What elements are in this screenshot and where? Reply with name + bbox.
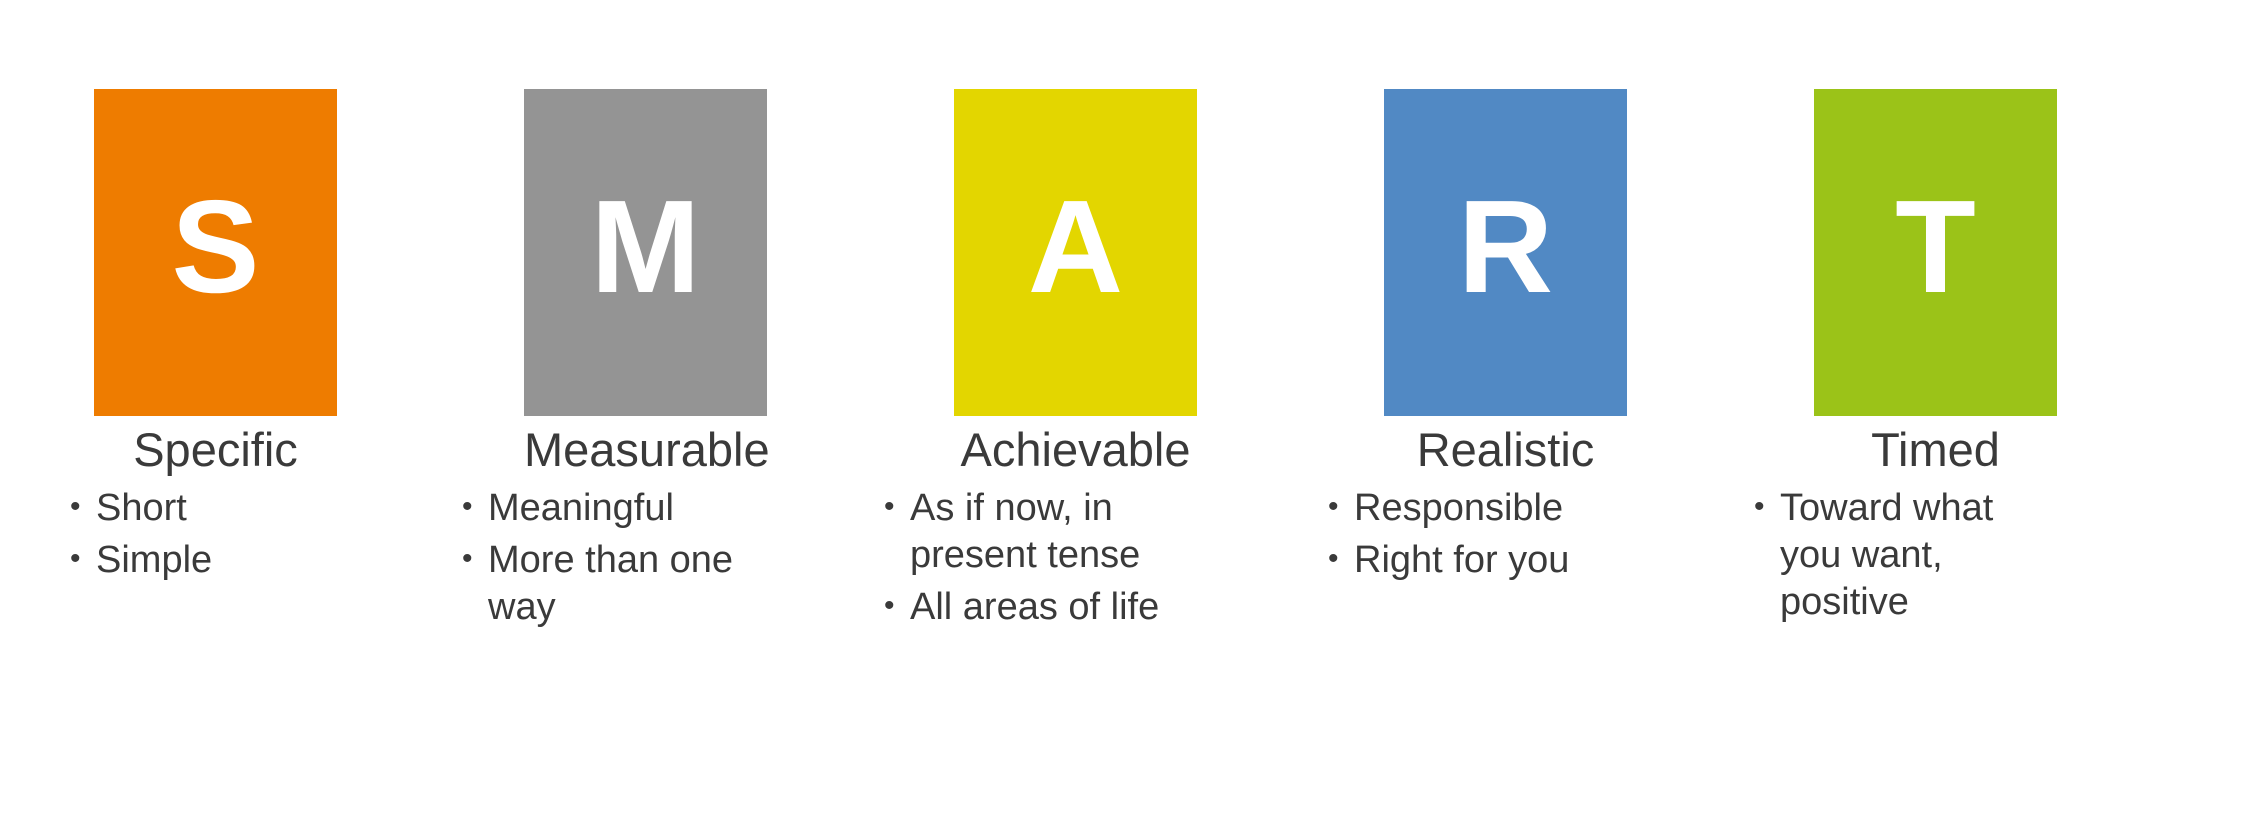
tile-letter-text: S [171, 181, 259, 313]
tile-letter-text: A [1028, 181, 1123, 313]
list-item: All areas of life [884, 584, 1184, 631]
letter-tile-t: T [1814, 89, 2057, 416]
list-item: More than one way [462, 537, 792, 631]
smart-column-realistic: R Realistic Responsible Right for you [1300, 0, 1730, 589]
letter-tile-r: R [1384, 89, 1627, 416]
column-heading-timed: Timed [1814, 424, 2057, 477]
smart-column-specific: S Specific Short Simple [10, 0, 440, 589]
list-item: Simple [70, 537, 350, 584]
column-heading-achievable: Achievable [954, 424, 1197, 477]
column-heading-realistic: Realistic [1384, 424, 1627, 477]
tile-letter-text: T [1895, 181, 1976, 313]
smart-column-achievable: A Achievable As if now, in present tense… [870, 0, 1300, 636]
smart-column-timed: T Timed Toward what you want, positive [1730, 0, 2160, 631]
letter-tile-m: M [524, 89, 767, 416]
column-heading-measurable: Measurable [524, 424, 767, 477]
letter-tile-a: A [954, 89, 1197, 416]
list-item: As if now, in present tense [884, 485, 1184, 579]
smart-columns: S Specific Short Simple M Measurable Mea… [0, 0, 2242, 839]
list-item: Responsible [1328, 485, 1638, 532]
bullet-list-timed: Toward what you want, positive [1754, 485, 2054, 631]
bullet-list-specific: Short Simple [70, 485, 350, 589]
smart-column-measurable: M Measurable Meaningful More than one wa… [440, 0, 870, 636]
list-item: Short [70, 485, 350, 532]
list-item: Meaningful [462, 485, 792, 532]
letter-tile-s: S [94, 89, 337, 416]
column-heading-specific: Specific [94, 424, 337, 477]
bullet-list-achievable: As if now, in present tense All areas of… [884, 485, 1184, 636]
tile-letter-text: R [1458, 181, 1553, 313]
list-item: Right for you [1328, 537, 1638, 584]
tile-letter-text: M [591, 181, 701, 313]
bullet-list-realistic: Responsible Right for you [1328, 485, 1638, 589]
list-item: Toward what you want, positive [1754, 485, 2054, 626]
bullet-list-measurable: Meaningful More than one way [462, 485, 792, 636]
smart-goals-diagram: S Specific Short Simple M Measurable Mea… [0, 0, 2242, 839]
